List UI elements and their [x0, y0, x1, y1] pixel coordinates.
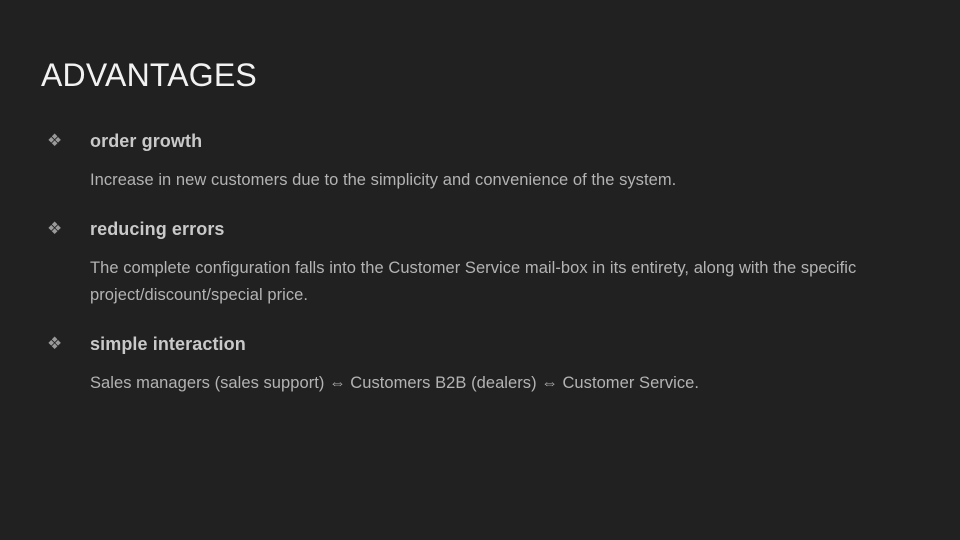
- list-item: ❖ order growth Increase in new customers…: [41, 128, 921, 194]
- list-item-header: ❖ simple interaction: [41, 331, 921, 357]
- list-item: ❖ simple interaction Sales managers (sal…: [41, 331, 921, 397]
- diamond-bullet-icon: ❖: [41, 216, 73, 242]
- slide: ADVANTAGES ❖ order growth Increase in ne…: [0, 0, 960, 540]
- list-item-title: simple interaction: [73, 331, 246, 357]
- list-item-title: order growth: [73, 128, 202, 154]
- list-item-description: The complete configuration falls into th…: [90, 255, 910, 309]
- list-item-description: Sales managers (sales support) ⇔ Custome…: [90, 370, 910, 397]
- list-item-title: reducing errors: [73, 216, 225, 242]
- list-item-header: ❖ reducing errors: [41, 216, 921, 242]
- diamond-bullet-icon: ❖: [41, 128, 73, 154]
- advantages-list: ❖ order growth Increase in new customers…: [41, 128, 921, 397]
- page-title: ADVANTAGES: [41, 56, 257, 94]
- list-item-header: ❖ order growth: [41, 128, 921, 154]
- diamond-bullet-icon: ❖: [41, 331, 73, 357]
- list-item: ❖ reducing errors The complete configura…: [41, 216, 921, 309]
- list-item-description: Increase in new customers due to the sim…: [90, 167, 910, 194]
